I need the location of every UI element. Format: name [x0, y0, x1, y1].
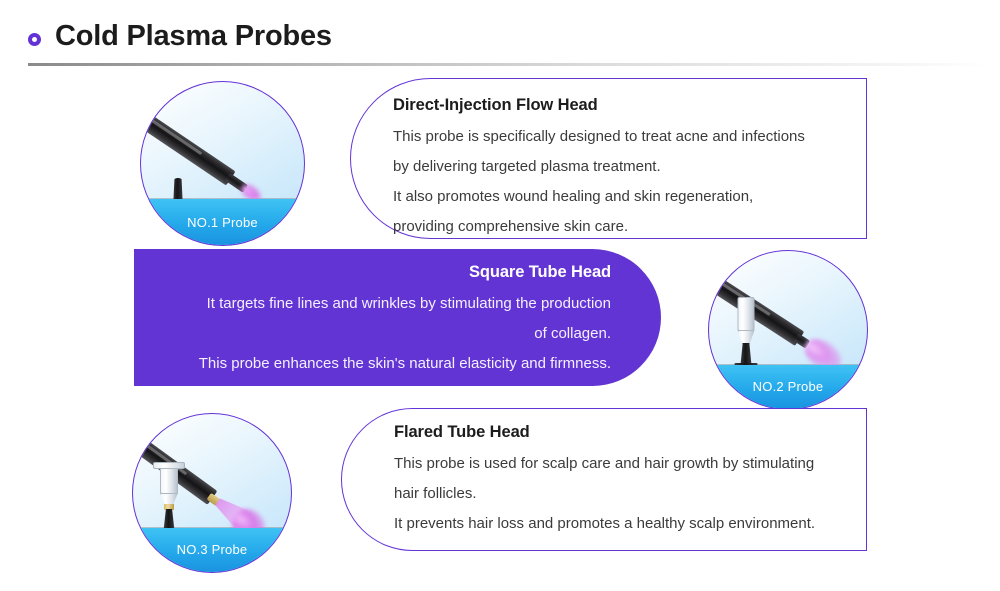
probe-card-title-no2: Square Tube Head [154, 263, 611, 282]
probe-label-no3: NO.3 Probe [177, 542, 248, 557]
wand-highlight [140, 112, 202, 155]
ring-bullet-icon [28, 33, 41, 46]
probe-card-no3[interactable]: Flared Tube Head This probe is used for … [341, 408, 867, 551]
page-header: Cold Plasma Probes [0, 0, 1000, 70]
probe-card-body-no3: Flared Tube Head This probe is used for … [394, 423, 850, 539]
accessory-glass-tube [738, 297, 755, 331]
probe-card-body-no1: Direct-Injection Flow Head This probe is… [393, 96, 850, 242]
probe-card-body-no2: Square Tube Head It targets fine lines a… [154, 263, 611, 379]
probe-label-no2: NO.2 Probe [753, 379, 824, 394]
accessory-glass-tube [160, 468, 178, 494]
probe-card-line: providing comprehensive skin care. [393, 212, 850, 242]
probe-card-line: hair follicles. [394, 479, 850, 509]
probe-card-line: This probe enhances the skin's natural e… [154, 349, 611, 379]
probe-image-no1: NO.1 Probe [140, 81, 305, 246]
probe-card-no2[interactable]: Square Tube Head It targets fine lines a… [134, 249, 661, 386]
probe-label-band-no3: NO.3 Probe [133, 528, 291, 572]
accessory-body [741, 343, 752, 365]
probe-image-no3: NO.3 Probe [132, 413, 292, 573]
probe-card-no1[interactable]: Direct-Injection Flow Head This probe is… [350, 78, 867, 239]
accessory-head-no3 [149, 462, 189, 536]
probe-card-line: of collagen. [154, 319, 611, 349]
probe-label-no1: NO.1 Probe [187, 215, 258, 230]
probe-card-line: It targets fine lines and wrinkles by st… [154, 289, 611, 319]
probe-card-line: It prevents hair loss and promotes a hea… [394, 509, 850, 539]
probe-card-line: by delivering targeted plasma treatment. [393, 152, 850, 182]
probe-label-band-no2: NO.2 Probe [709, 365, 867, 409]
probe-card-title-no3: Flared Tube Head [394, 423, 850, 442]
probe-card-line: This probe is used for scalp care and ha… [394, 449, 850, 479]
probe-label-band-no1: NO.1 Probe [141, 199, 304, 245]
probe-card-line: It also promotes wound healing and skin … [393, 182, 850, 212]
wand-no1 [140, 105, 262, 203]
accessory-glass-taper [738, 330, 755, 344]
probe-card-line: This probe is specifically designed to t… [393, 122, 850, 152]
probe-image-no2: NO.2 Probe [708, 250, 868, 410]
wand-no2 [708, 266, 829, 362]
probe-card-title-no1: Direct-Injection Flow Head [393, 96, 850, 115]
wand-body [140, 105, 236, 185]
header-divider [28, 63, 988, 66]
accessory-head-no2 [729, 297, 763, 369]
page-title: Cold Plasma Probes [55, 20, 332, 53]
